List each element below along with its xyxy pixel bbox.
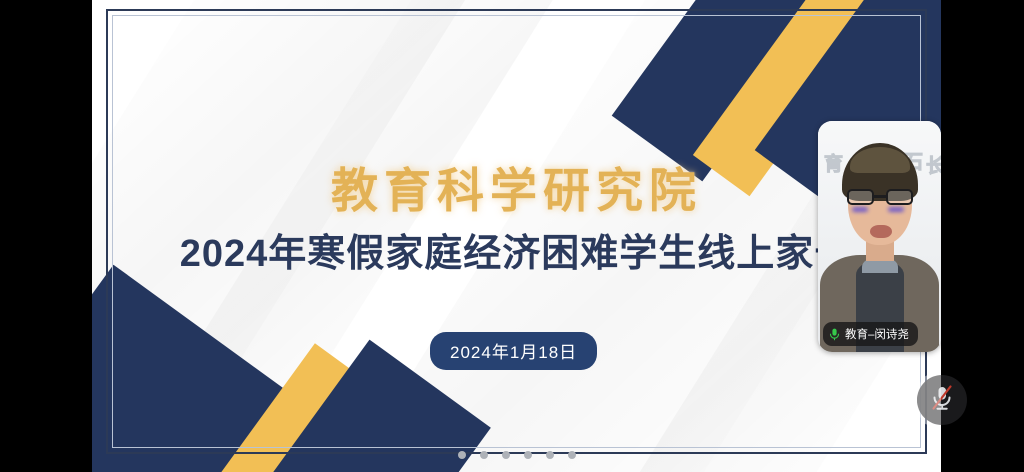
microphone-muted-icon [929,384,955,417]
pagination-dot[interactable] [502,451,510,459]
screen-share-viewer: 教育科学研究院 2024年寒假家庭经济困难学生线上家长 2024年1月18日 育… [0,0,1024,472]
participant-name-label: 教育–闵诗尧 [845,326,909,342]
participant-name-chip: 教育–闵诗尧 [823,322,918,346]
eyeglasses-icon [846,189,914,206]
whiteboard-character: 育 [824,149,843,176]
pagination-dot[interactable] [568,451,576,459]
pagination-dot[interactable] [546,451,554,459]
slide-title: 教育科学研究院 [92,152,941,221]
screen-glow-reflection [888,207,904,212]
eyeglasses-lens-left [847,189,874,205]
screen-glow-reflection [852,207,868,212]
slide-date-badge: 2024年1月18日 [430,332,597,370]
slide-subtitle: 2024年寒假家庭经济困难学生线上家长 [92,222,941,277]
participant-video-tile[interactable]: 育 长 石 长 教育–闵诗尧 [818,121,941,352]
shared-slide[interactable]: 教育科学研究院 2024年寒假家庭经济困难学生线上家长 2024年1月18日 [92,0,941,472]
pagination-dot[interactable] [458,451,466,459]
pagination-dot[interactable] [480,451,488,459]
pagination-dots[interactable] [92,451,941,459]
person-mouth [870,225,892,238]
eyeglasses-bridge [874,195,886,198]
microphone-on-icon [829,328,840,341]
eyeglasses-lens-right [886,189,913,205]
pagination-dot[interactable] [524,451,532,459]
whiteboard-character: 长 [926,151,941,178]
mute-microphone-button[interactable] [917,375,967,425]
